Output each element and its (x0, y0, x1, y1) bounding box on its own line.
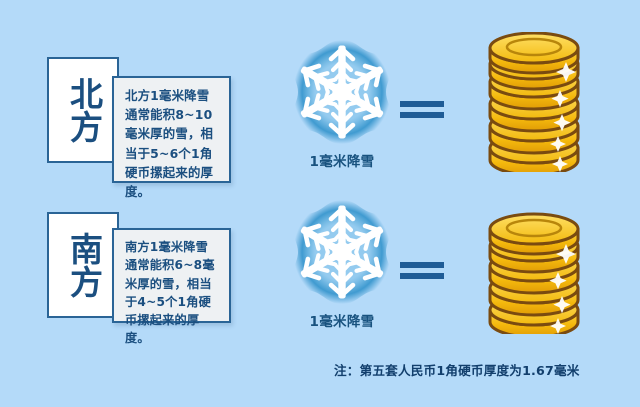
description-text-north: 北方1毫米降雪通常能积8~10毫米厚的雪，相当于5~6个1角硬币摞起来的厚度。 (125, 86, 220, 201)
snowflake-block-south: 1毫米降雪 (277, 196, 407, 330)
equals-bar-bottom (400, 273, 444, 279)
snowflake-caption-north: 1毫米降雪 (277, 150, 407, 170)
region-card-north: 北方 (47, 57, 119, 163)
snowflake-icon (287, 36, 397, 148)
infographic-canvas: 北方 北方1毫米降雪通常能积8~10毫米厚的雪，相当于5~6个1角硬币摞起来的厚… (0, 0, 640, 407)
coin-stack-north (482, 32, 586, 172)
equals-bar-bottom (400, 112, 444, 118)
snowflake-caption-south: 1毫米降雪 (277, 310, 407, 330)
description-panel-south: 南方1毫米降雪通常能积6~8毫米厚的雪，相当于4~5个1角硬币摞起来的厚度。 (112, 228, 231, 323)
coin-stack-south (482, 212, 586, 334)
equals-bar-top (400, 101, 444, 107)
region-label-north: 北方 (66, 77, 101, 143)
description-text-south: 南方1毫米降雪通常能积6~8毫米厚的雪，相当于4~5个1角硬币摞起来的厚度。 (125, 238, 220, 348)
equals-bar-top (400, 262, 444, 268)
coin-stack-icon (482, 212, 586, 334)
footnote-text: 注：第五套人民币1角硬币厚度为1.67毫米 (334, 360, 580, 379)
region-card-south: 南方 (47, 212, 119, 318)
region-label-south: 南方 (66, 232, 101, 298)
equals-icon-north (400, 101, 444, 118)
snowflake-block-north: 1毫米降雪 (277, 36, 407, 170)
description-panel-north: 北方1毫米降雪通常能积8~10毫米厚的雪，相当于5~6个1角硬币摞起来的厚度。 (112, 76, 231, 183)
coin-stack-icon (482, 32, 586, 172)
equals-icon-south (400, 262, 444, 279)
snowflake-icon (287, 196, 397, 308)
